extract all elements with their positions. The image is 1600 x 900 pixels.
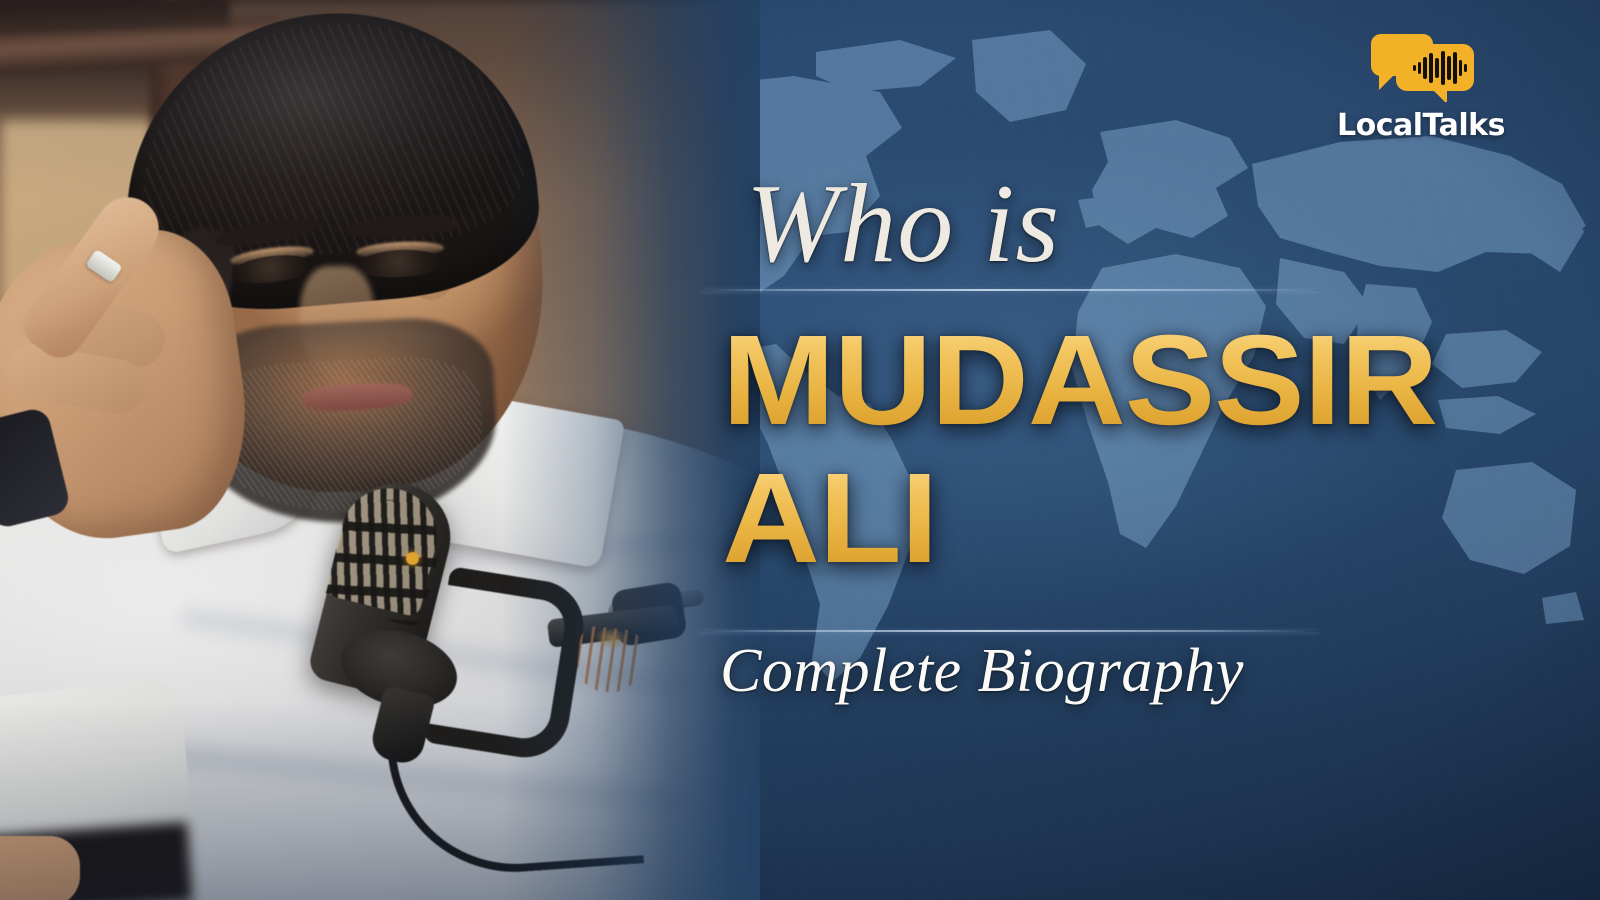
title-subtitle: Complete Biography xyxy=(720,636,1244,707)
forearm xyxy=(0,836,80,900)
subject-photo xyxy=(0,0,760,900)
title-name-line-2: ALI xyxy=(722,460,937,578)
divider-top xyxy=(700,289,1320,291)
title-name-line-1: MUDASSIR xyxy=(722,322,1437,440)
divider-bottom xyxy=(700,630,1320,632)
youtube-thumbnail: Who is MUDASSIR ALI Complete Biography xyxy=(0,0,1600,900)
brand-wordmark: LocalTalks xyxy=(1326,108,1516,143)
title-block: Who is MUDASSIR ALI Complete Biography xyxy=(700,0,1320,900)
title-eyebrow: Who is xyxy=(746,168,1060,280)
speech-bubbles-waveform-icon xyxy=(1361,30,1481,102)
brand-logo: LocalTalks xyxy=(1326,30,1516,150)
microphone-led-icon xyxy=(406,552,419,565)
